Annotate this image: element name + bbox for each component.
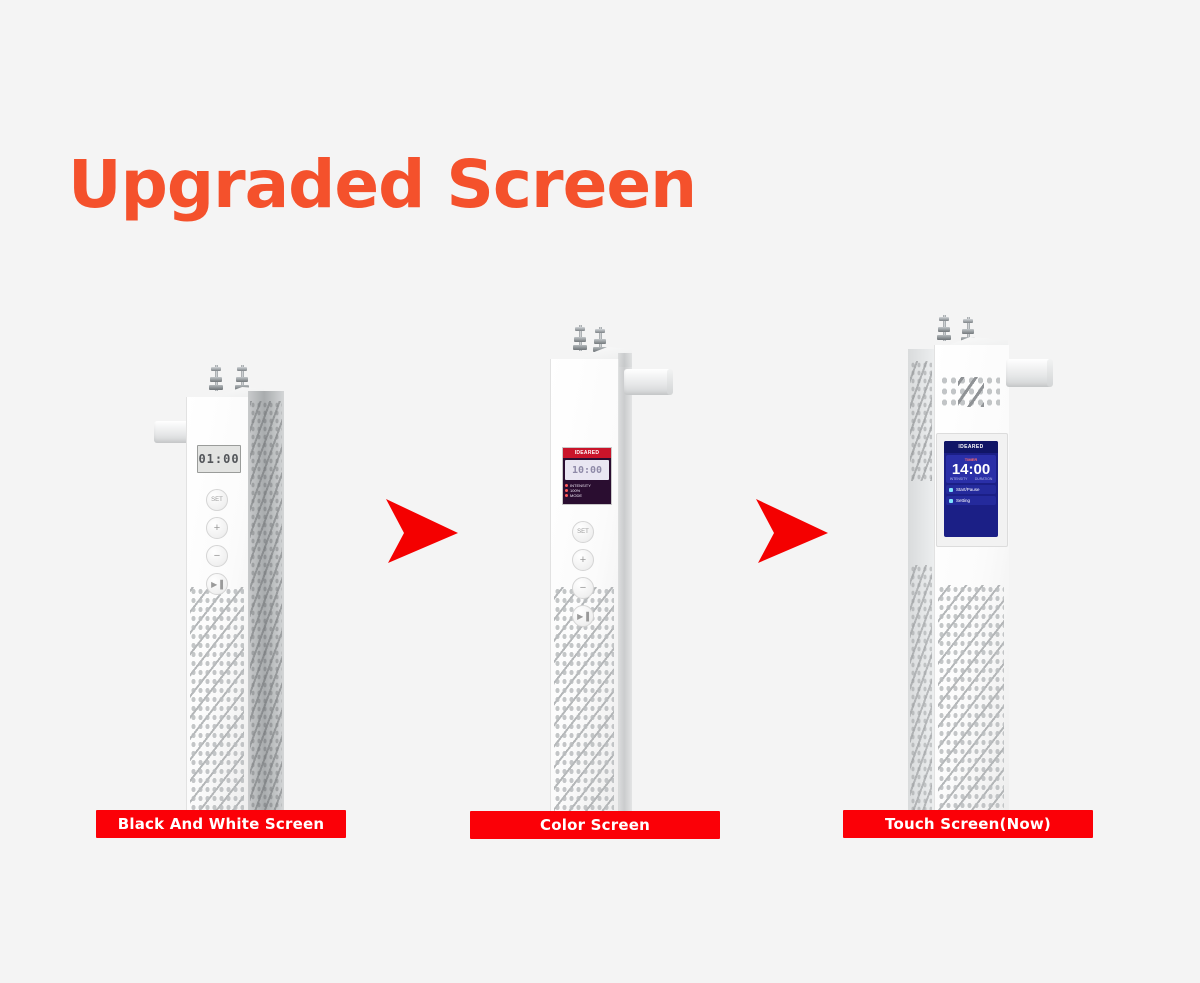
device-color: IDEARED 10:00 INTENSITY 100% MODE SET	[520, 325, 710, 825]
duration-label: DURATION	[975, 477, 992, 481]
pipe-connector	[1006, 359, 1052, 387]
pipe-connector	[624, 369, 672, 395]
play-pause-button[interactable]: ▶▐	[206, 573, 228, 595]
lcd-status-rows: INTENSITY 100% MODE	[563, 482, 611, 499]
menu-item-label: Start/Pause	[956, 487, 980, 492]
menu-item-label: Setting	[956, 498, 970, 503]
menu-item-setting[interactable]: Setting	[946, 496, 996, 505]
page-title: Upgraded Screen	[68, 152, 696, 218]
set-button[interactable]: SET	[206, 489, 228, 511]
plus-button-label: +	[580, 554, 586, 566]
caption-label: Color Screen	[540, 816, 650, 834]
vent-perforation-pattern	[190, 587, 244, 819]
lcd-time-value: 10:00	[565, 460, 609, 480]
minus-button-label: −	[214, 550, 220, 562]
gear-icon	[949, 499, 953, 503]
set-button-label: SET	[211, 497, 223, 503]
play-icon	[949, 488, 953, 492]
poster-stage: Upgraded Screen 01:00 SET	[0, 0, 1200, 983]
intensity-label: INTENSITY	[950, 477, 968, 481]
vent-perforation-pattern	[938, 585, 1004, 813]
arrow-right-icon	[748, 495, 832, 565]
lcd-time-value: 01:00	[198, 452, 239, 466]
minus-button-label: −	[580, 582, 586, 594]
plus-button-label: +	[214, 522, 220, 534]
color-lcd-display: IDEARED 10:00 INTENSITY 100% MODE	[562, 447, 612, 505]
caption-label: Black And White Screen	[118, 815, 324, 833]
lcd-status-row: MODE	[565, 493, 609, 498]
vent-perforation-pattern	[910, 565, 932, 815]
touch-screen-display[interactable]: IDEARED TIMER 14:00 INTENSITY DURATION S…	[944, 441, 998, 537]
timer-value: 14:00	[946, 462, 996, 477]
mounting-bolt-icon	[940, 315, 948, 341]
set-button[interactable]: SET	[572, 521, 594, 543]
caption-black-and-white-screen: Black And White Screen	[96, 810, 346, 838]
lcd-status-text: MODE	[570, 493, 582, 498]
device-mono: 01:00 SET + − ▶▐	[150, 365, 330, 825]
device-side-face	[618, 353, 632, 825]
play-pause-button[interactable]: ▶▐	[572, 605, 594, 627]
vent-perforation-pattern	[250, 401, 282, 819]
caption-color-screen: Color Screen	[470, 811, 720, 839]
device-touch: IDEARED TIMER 14:00 INTENSITY DURATION S…	[890, 315, 1090, 825]
set-button-label: SET	[577, 529, 589, 535]
screen-brand-label: IDEARED	[944, 441, 998, 453]
plus-button[interactable]: +	[572, 549, 594, 571]
emblem-slash-icon	[958, 377, 984, 407]
arrow-right-icon	[378, 495, 462, 565]
play-pause-icon: ▶▐	[211, 580, 223, 589]
lcd-brand-label: IDEARED	[563, 448, 611, 458]
mono-lcd-display: 01:00	[197, 445, 241, 473]
mounting-bolt-icon	[212, 365, 220, 391]
vent-perforation-pattern	[910, 361, 932, 481]
timer-card[interactable]: TIMER 14:00 INTENSITY DURATION	[946, 455, 996, 483]
minus-button[interactable]: −	[572, 577, 594, 599]
menu-item-start-pause[interactable]: Start/Pause	[946, 485, 996, 494]
mounting-bolt-icon	[576, 325, 584, 351]
minus-button[interactable]: −	[206, 545, 228, 567]
caption-touch-screen: Touch Screen(Now)	[843, 810, 1093, 838]
plus-button[interactable]: +	[206, 517, 228, 539]
caption-label: Touch Screen(Now)	[885, 815, 1051, 833]
play-pause-icon: ▶▐	[577, 612, 589, 621]
